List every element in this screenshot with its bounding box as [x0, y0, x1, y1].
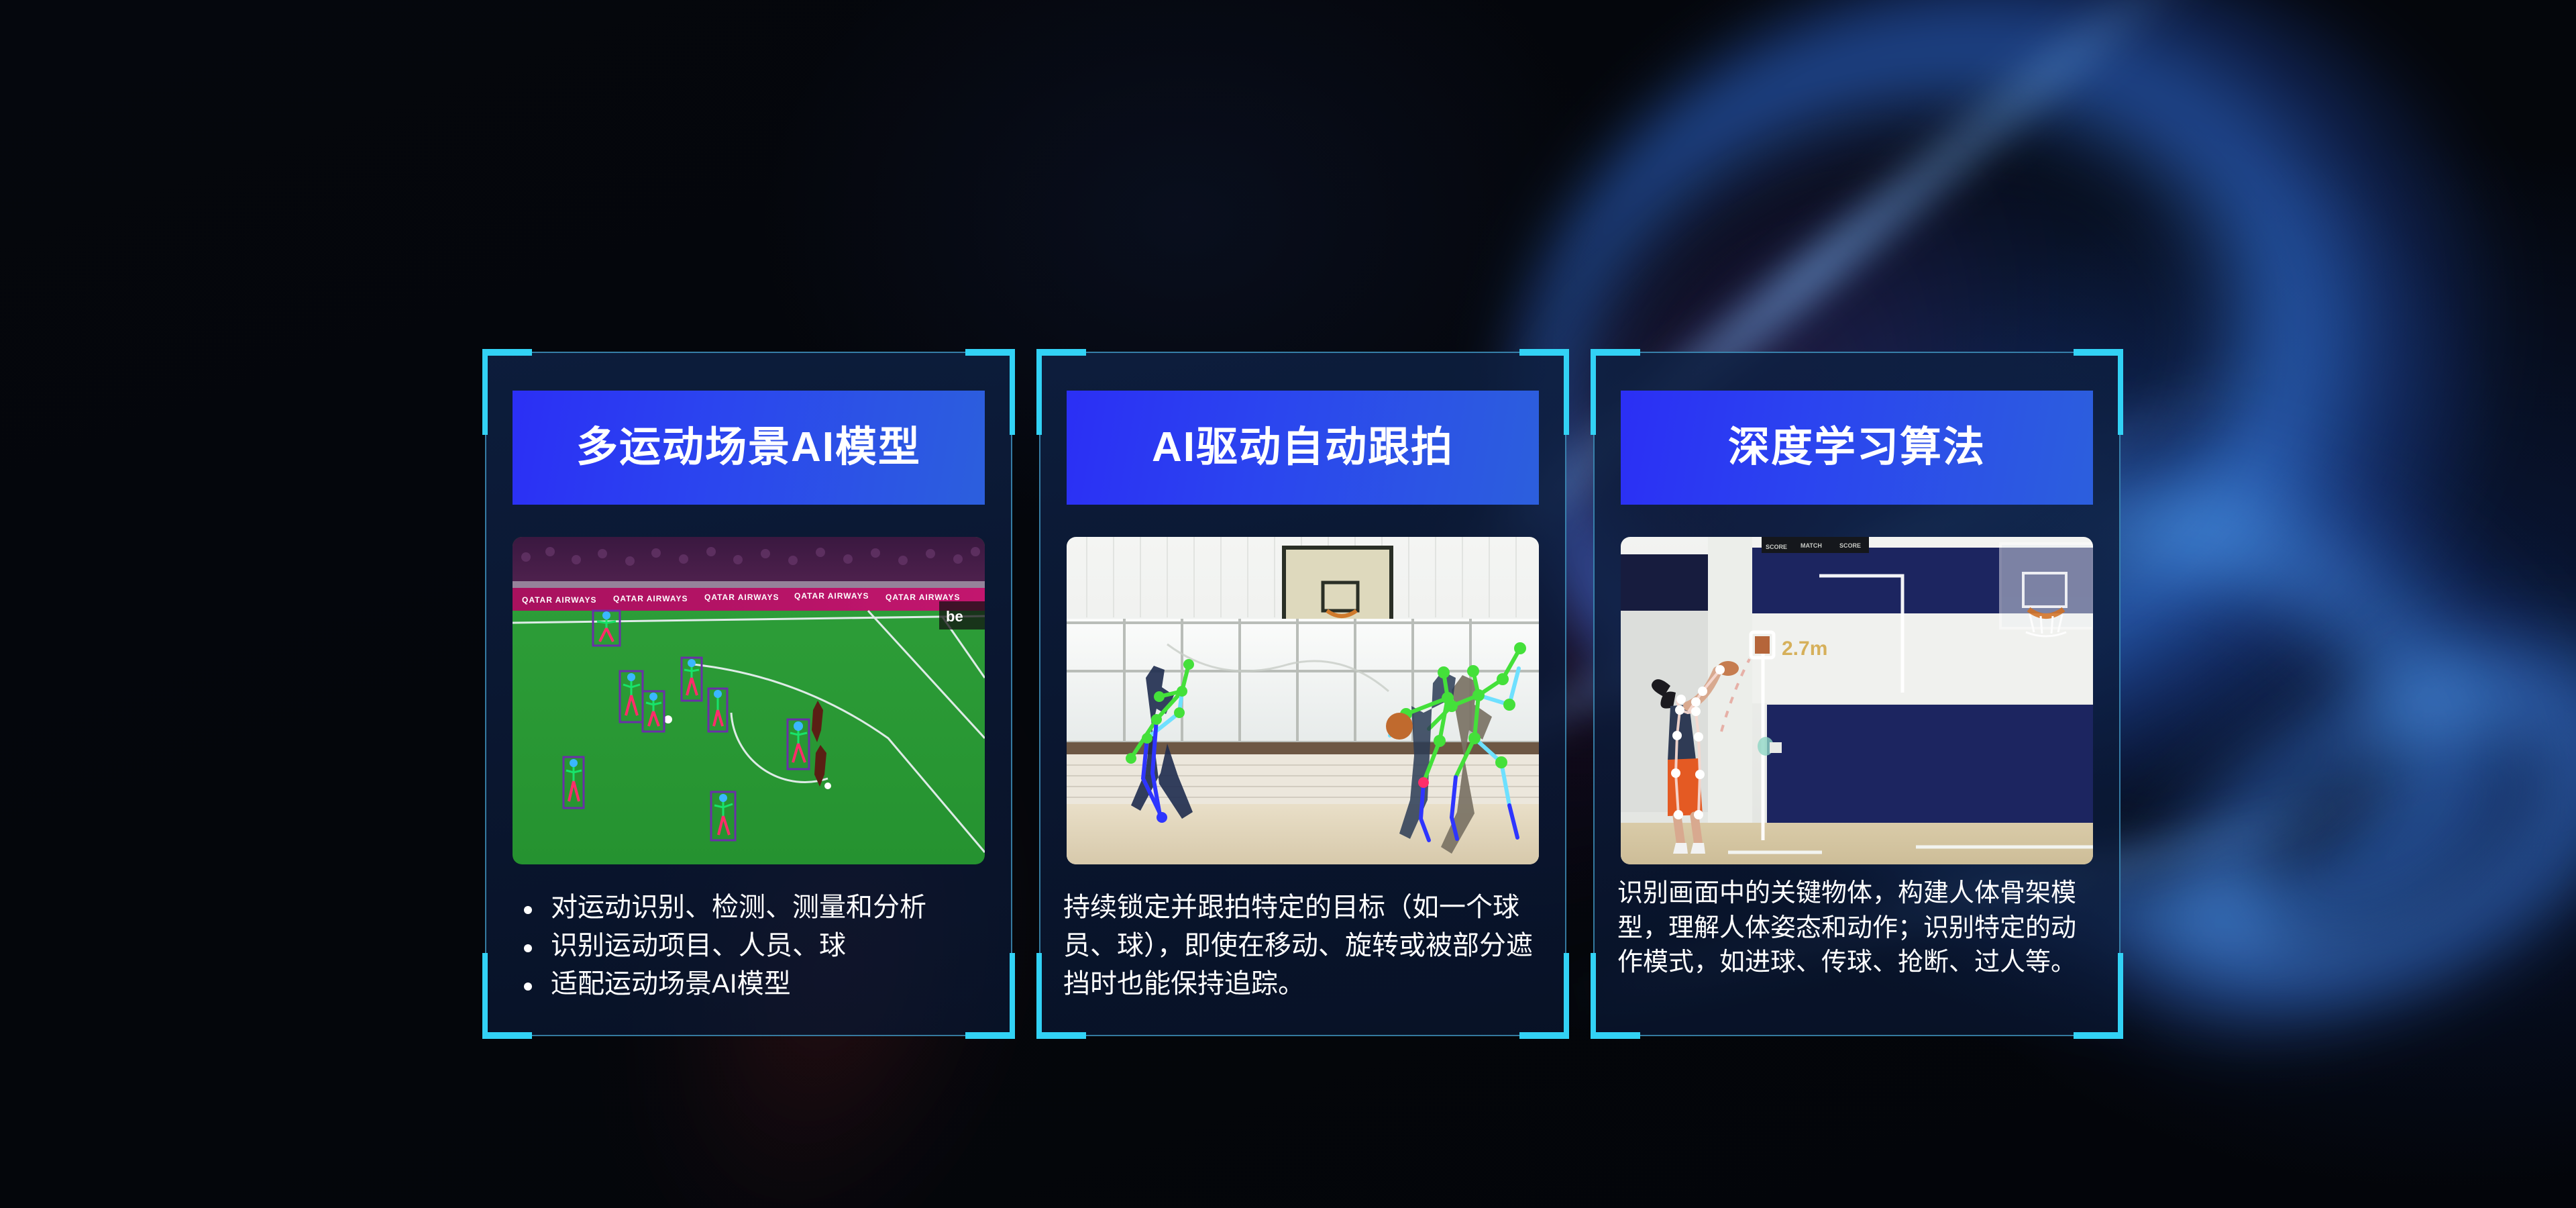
- card-header-banner: 深度学习算法: [1621, 391, 2093, 505]
- list-item: 对运动识别、检测、测量和分析: [509, 889, 988, 927]
- feature-card-multi-sport-ai-model[interactable]: 多运动场景AI模型: [485, 352, 1012, 1036]
- distance-annotation: 2.7m: [1782, 638, 1827, 660]
- feature-card-deep-learning-algorithm[interactable]: 深度学习算法: [1593, 352, 2121, 1036]
- list-item: 适配运动场景AI模型: [509, 965, 988, 1003]
- svg-text:QATAR AIRWAYS: QATAR AIRWAYS: [613, 594, 688, 603]
- corner-bracket-top-right-v: [1010, 349, 1015, 435]
- corner-bracket-bottom-left: [1592, 1032, 1640, 1039]
- svg-text:QATAR AIRWAYS: QATAR AIRWAYS: [794, 591, 869, 601]
- corner-bracket-top-right-v: [1564, 349, 1569, 435]
- svg-text:QATAR AIRWAYS: QATAR AIRWAYS: [522, 595, 596, 605]
- card-body: 识别画面中的关键物体，构建人体骨架模型，理解人体姿态和动作；识别特定的动作模式，…: [1593, 876, 2121, 980]
- card-title: 多运动场景AI模型: [576, 427, 921, 468]
- card-title: 深度学习算法: [1728, 427, 1986, 468]
- feature-card-row: 多运动场景AI模型: [485, 352, 2135, 1036]
- corner-bracket-top-right: [965, 349, 1014, 356]
- card-body: 持续锁定并跟拍特定的目标（如一个球员、球），即使在移动、旋转或被部分遮挡时也能保…: [1039, 889, 1566, 1003]
- corner-bracket-top-left: [484, 349, 532, 356]
- card-title: AI驱动自动跟拍: [1152, 427, 1454, 468]
- corner-bracket-top-right: [1519, 349, 1568, 356]
- corner-bracket-bottom-left: [1038, 1032, 1086, 1039]
- feature-bullet-list: 对运动识别、检测、测量和分析 识别运动项目、人员、球 适配运动场景AI模型: [509, 889, 988, 1003]
- card-header-banner: AI驱动自动跟拍: [1067, 391, 1539, 505]
- card-header-banner: 多运动场景AI模型: [513, 391, 985, 505]
- svg-text:QATAR AIRWAYS: QATAR AIRWAYS: [885, 593, 960, 602]
- svg-text:SCORE: SCORE: [1839, 542, 1861, 549]
- corner-bracket-top-left-v: [1036, 349, 1042, 435]
- card-body: 对运动识别、检测、测量和分析 识别运动项目、人员、球 适配运动场景AI模型: [485, 889, 1012, 1003]
- basketball-shot-measure-image: SCOREMATCHSCORE: [1621, 537, 2093, 864]
- card-description: 持续锁定并跟拍特定的目标（如一个球员、球），即使在移动、旋转或被部分遮挡时也能保…: [1063, 889, 1542, 1003]
- corner-bracket-top-left: [1592, 349, 1640, 356]
- basketball-gym-pose-image: [1067, 537, 1539, 864]
- corner-bracket-top-right: [2074, 349, 2122, 356]
- corner-bracket-top-left: [1038, 349, 1086, 356]
- corner-bracket-bottom-right: [2074, 1032, 2122, 1039]
- feature-card-ai-auto-tracking[interactable]: AI驱动自动跟拍: [1039, 352, 1566, 1036]
- corner-bracket-top-left-v: [482, 349, 488, 435]
- svg-text:SCORE: SCORE: [1766, 544, 1787, 550]
- list-item: 识别运动项目、人员、球: [509, 927, 988, 965]
- svg-text:QATAR AIRWAYS: QATAR AIRWAYS: [704, 593, 779, 602]
- corner-bracket-bottom-right: [965, 1032, 1014, 1039]
- corner-bracket-top-right-v: [2118, 349, 2123, 435]
- corner-bracket-bottom-left: [484, 1032, 532, 1039]
- corner-bracket-bottom-right: [1519, 1032, 1568, 1039]
- svg-text:be: be: [946, 608, 963, 625]
- svg-text:MATCH: MATCH: [1801, 542, 1822, 549]
- card-description: 识别画面中的关键物体，构建人体骨架模型，理解人体姿态和动作；识别特定的动作模式，…: [1617, 876, 2096, 980]
- corner-bracket-top-left-v: [1591, 349, 1596, 435]
- soccer-pose-detection-image: QATAR AIRWAYS QATAR AIRWAYS QATAR AIRWAY…: [513, 537, 985, 864]
